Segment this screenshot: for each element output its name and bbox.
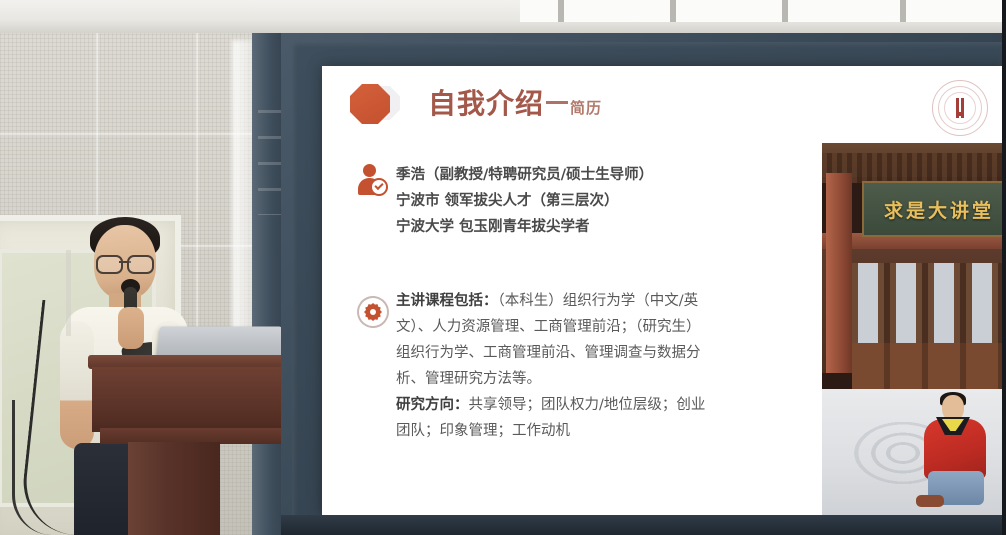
person-verified-icon — [350, 162, 396, 240]
page-title: 自我介绍简历 — [428, 90, 602, 118]
screenshot-scene: 自我介绍简历 季浩（副教授/特聘研究员/硕士生导师） 宁波市 领军拔尖人才（第三… — [0, 0, 1006, 535]
podium-body — [92, 367, 290, 432]
bio-line-3: 宁波大学 包玉刚青年拔尖学者 — [396, 214, 780, 240]
research-paragraph: 研究方向：共享领导；团队权力/地位层级；创业团队；印象管理；工作动机 — [396, 392, 714, 444]
octagon-bullet-icon — [350, 84, 390, 124]
university-seal-logo — [932, 80, 988, 136]
slide-title-sub: 简历 — [570, 100, 602, 117]
person-icon-head — [363, 164, 376, 177]
photo-pillar — [826, 173, 852, 373]
bio-line-2: 宁波市 领军拔尖人才（第三层次） — [396, 188, 780, 214]
courses-text: 主讲课程包括：（本科生）组织行为学（中文/英文）、人力资源管理、工商管理前沿；（… — [396, 288, 780, 444]
glasses-icon — [96, 255, 154, 270]
bio-line-1: 季浩（副教授/特聘研究员/硕士生导师） — [396, 162, 780, 188]
podium-stem — [128, 442, 220, 535]
bio-lines: 季浩（副教授/特聘研究员/硕士生导师） 宁波市 领军拔尖人才（第三层次） 宁波大… — [396, 162, 780, 240]
seal-glyph — [950, 98, 970, 118]
courses-lead: 主讲课程包括： — [396, 293, 498, 309]
glasses-bridge — [119, 261, 131, 263]
courses-paragraph: 主讲课程包括：（本科生）组织行为学（中文/英文）、人力资源管理、工商管理前沿；（… — [396, 288, 714, 392]
slide-title-row: 自我介绍简历 — [350, 84, 602, 124]
photo-plaque: 求是大讲堂 — [862, 181, 1006, 237]
slide-title-main: 自我介绍 — [428, 88, 544, 119]
title-dash — [546, 101, 568, 104]
ceiling-beams — [520, 0, 1006, 22]
plaque-text: 求是大讲堂 — [884, 196, 994, 223]
presentation-slide: 自我介绍简历 季浩（副教授/特聘研究员/硕士生导师） 宁波市 领军拔尖人才（第三… — [322, 66, 1006, 515]
research-lead: 研究方向： — [396, 397, 469, 413]
bio-block: 季浩（副教授/特聘研究员/硕士生导师） 宁波市 领军拔尖人才（第三层次） 宁波大… — [350, 162, 780, 240]
screen-bottom-strip — [281, 515, 1006, 535]
gear-icon — [357, 296, 389, 328]
gear-refresh-icon — [350, 288, 396, 444]
graduation-photo: 求是大讲堂 — [822, 143, 1006, 515]
microphone-cable-lower — [12, 400, 69, 535]
check-badge-icon — [370, 178, 388, 196]
courses-block: 主讲课程包括：（本科生）组织行为学（中文/英文）、人力资源管理、工商管理前沿；（… — [350, 288, 780, 444]
photo-graduate — [918, 395, 996, 515]
person-icon — [358, 164, 388, 196]
gear-center-hole — [370, 309, 376, 315]
right-dark-edge — [1002, 0, 1006, 535]
graduate-shoe — [916, 495, 944, 507]
